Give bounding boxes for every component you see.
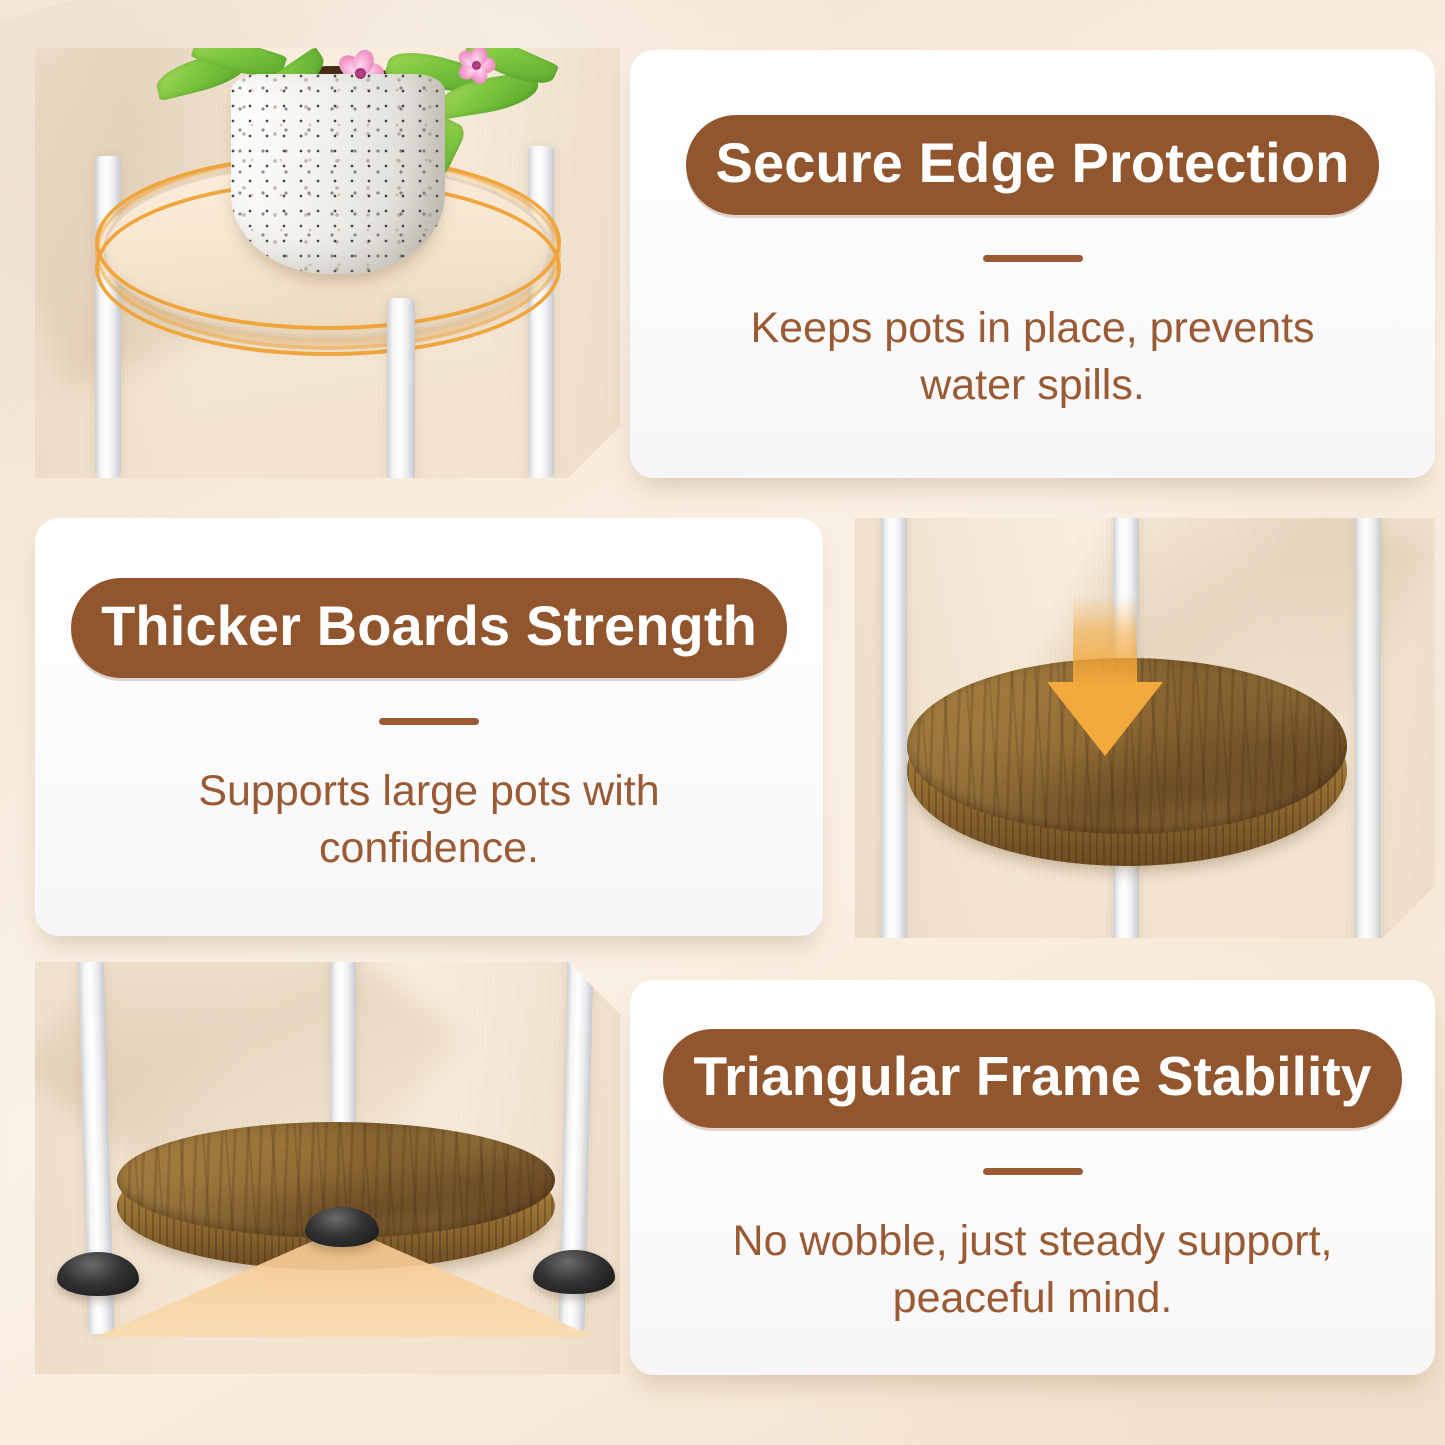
title-divider-3 bbox=[983, 1168, 1083, 1175]
feature-title-badge-2: Thicker Boards Strength bbox=[71, 578, 787, 678]
infographic-stage: Secure Edge Protection Keeps pots in pla… bbox=[0, 0, 1445, 1445]
leg-right bbox=[1355, 518, 1381, 938]
feature-description-3: No wobble, just steady support, peaceful… bbox=[693, 1213, 1371, 1327]
photo-scene-1 bbox=[35, 48, 620, 478]
feature-card-thicker-boards-strength: Thicker Boards Strength Supports large p… bbox=[35, 518, 823, 936]
leg-front-center bbox=[387, 298, 415, 478]
photo-thicker-boards-strength bbox=[855, 518, 1435, 938]
feature-card-secure-edge-protection: Secure Edge Protection Keeps pots in pla… bbox=[630, 50, 1435, 478]
orange-down-arrow bbox=[1025, 596, 1185, 756]
leg-left bbox=[881, 518, 907, 938]
feature-description-2: Supports large pots with confidence. bbox=[98, 763, 760, 877]
title-divider-2 bbox=[379, 718, 479, 725]
photo-triangular-frame-stability bbox=[35, 962, 620, 1374]
arrow-head bbox=[1047, 682, 1163, 756]
title-divider-1 bbox=[983, 255, 1083, 262]
pink-flower bbox=[457, 48, 495, 82]
terrazzo-planter-pot bbox=[231, 74, 445, 274]
photo-scene-2 bbox=[855, 518, 1435, 938]
feature-card-triangular-frame-stability: Triangular Frame Stability No wobble, ju… bbox=[630, 980, 1435, 1375]
feature-title-badge-1: Secure Edge Protection bbox=[686, 115, 1380, 215]
leg-right-back bbox=[528, 146, 554, 478]
feature-title-badge-3: Triangular Frame Stability bbox=[663, 1029, 1401, 1128]
photo-secure-edge-protection bbox=[35, 48, 620, 478]
photo-scene-3 bbox=[35, 962, 620, 1374]
arrow-shaft bbox=[1073, 596, 1137, 688]
feature-description-1: Keeps pots in place, prevents water spil… bbox=[693, 300, 1371, 414]
